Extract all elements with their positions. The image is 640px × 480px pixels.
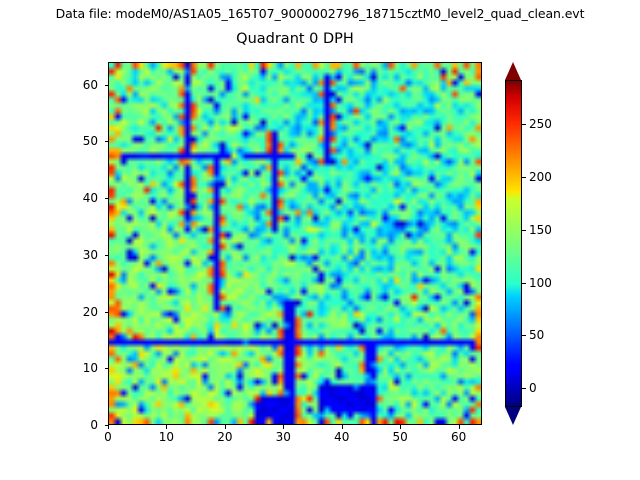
y-tick-mark-0 <box>105 425 109 426</box>
colorbar-tick-mark-150 <box>522 230 526 231</box>
y-tick-mark-20 <box>105 312 109 313</box>
y-tick-mark-50 <box>105 141 109 142</box>
x-tick-label-20: 20 <box>205 430 245 444</box>
colorbar-tick-label-200: 200 <box>529 170 552 184</box>
colorbar-tick-mark-250 <box>522 124 526 125</box>
x-tick-label-10: 10 <box>146 430 186 444</box>
x-tick-mark-50 <box>400 425 401 429</box>
colorbar-tick-mark-50 <box>522 335 526 336</box>
y-tick-label-50: 50 <box>62 134 98 148</box>
colorbar-tick-label-100: 100 <box>529 276 552 290</box>
colorbar-tick-label-250: 250 <box>529 117 552 131</box>
colorbar-tick-label-150: 150 <box>529 223 552 237</box>
colorbar[interactable]: 050100150200250 <box>505 62 522 425</box>
y-tick-label-20: 20 <box>62 305 98 319</box>
y-tick-label-0: 0 <box>62 418 98 432</box>
x-tick-mark-20 <box>225 425 226 429</box>
y-tick-label-60: 60 <box>62 78 98 92</box>
colorbar-extend-bottom-arrow-icon <box>505 407 521 425</box>
y-tick-mark-10 <box>105 368 109 369</box>
y-tick-label-10: 10 <box>62 361 98 375</box>
plot-title: Quadrant 0 DPH <box>108 31 482 47</box>
colorbar-tick-label-50: 50 <box>529 328 544 342</box>
colorbar-tick-mark-0 <box>522 388 526 389</box>
x-tick-label-30: 30 <box>263 430 303 444</box>
colorbar-tick-mark-100 <box>522 283 526 284</box>
x-tick-mark-30 <box>283 425 284 429</box>
x-tick-mark-10 <box>166 425 167 429</box>
colorbar-tick-label-0: 0 <box>529 381 537 395</box>
figure-canvas: Data file: modeM0/AS1A05_165T07_90000027… <box>0 0 640 480</box>
colorbar-body[interactable] <box>505 80 522 407</box>
y-tick-label-40: 40 <box>62 191 98 205</box>
y-tick-mark-40 <box>105 198 109 199</box>
x-tick-label-40: 40 <box>322 430 362 444</box>
y-tick-mark-30 <box>105 255 109 256</box>
colorbar-tick-mark-200 <box>522 177 526 178</box>
detector-heatmap-image[interactable] <box>109 63 481 424</box>
colorbar-extend-top-arrow-icon <box>505 62 521 80</box>
x-tick-mark-0 <box>108 425 109 429</box>
x-tick-label-50: 50 <box>380 430 420 444</box>
colorbar-gradient <box>506 81 521 406</box>
data-file-label: Data file: modeM0/AS1A05_165T07_90000027… <box>0 6 640 21</box>
y-tick-mark-60 <box>105 85 109 86</box>
x-tick-label-0: 0 <box>88 430 128 444</box>
x-tick-label-60: 60 <box>439 430 479 444</box>
heatmap-axes[interactable] <box>108 62 482 425</box>
y-tick-label-30: 30 <box>62 248 98 262</box>
x-tick-mark-40 <box>342 425 343 429</box>
x-tick-mark-60 <box>459 425 460 429</box>
